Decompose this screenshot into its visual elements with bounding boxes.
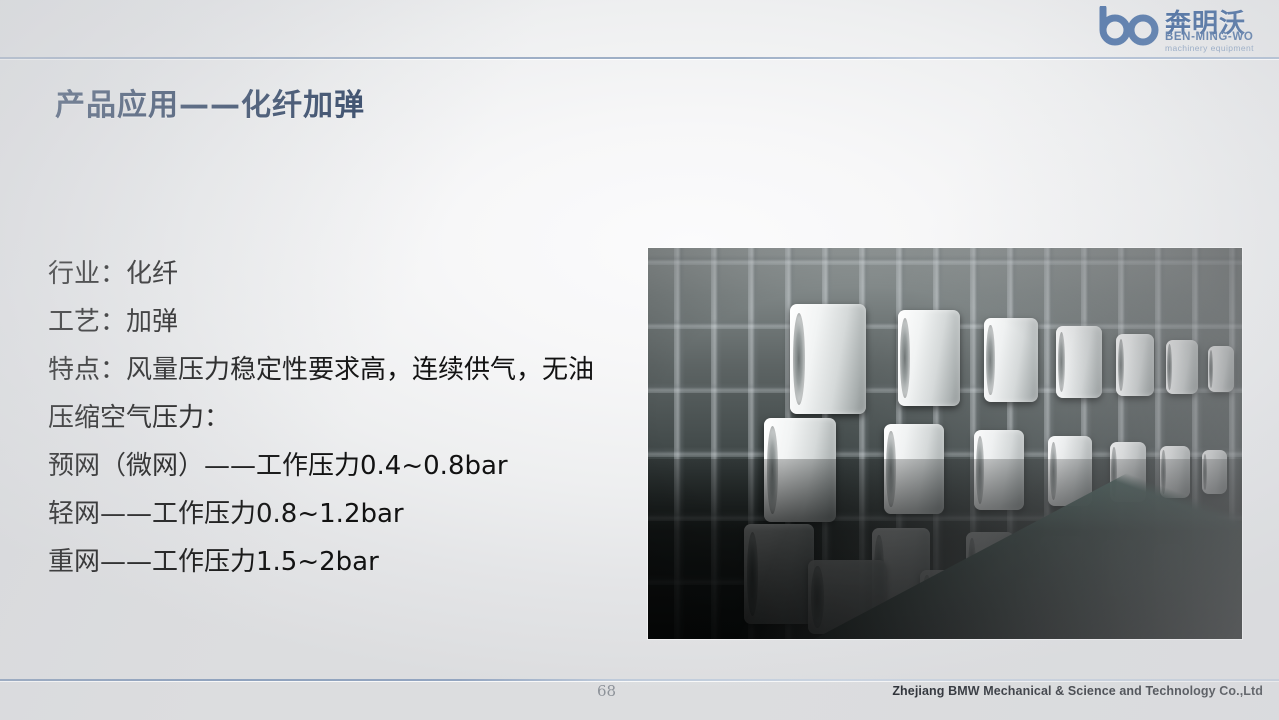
body-text-block: 行业：化纤 工艺：加弹 特点：风量压力稳定性要求高，连续供气，无油 压缩空气压力… bbox=[48, 250, 618, 586]
footer-divider bbox=[0, 679, 1279, 681]
photo-vignette bbox=[648, 248, 1242, 639]
body-line: 行业：化纤 bbox=[48, 250, 618, 298]
logo-romanized-name: BEN-MING-WO bbox=[1165, 31, 1253, 43]
bo-monogram-icon bbox=[1099, 6, 1161, 46]
slide-title: 产品应用——化纤加弹 bbox=[55, 80, 365, 124]
logo-tagline: machinery equipment bbox=[1165, 43, 1254, 53]
body-line: 轻网——工作压力0.8~1.2bar bbox=[48, 490, 618, 538]
company-logo: 奔明沃 BEN-MING-WO machinery equipment bbox=[1099, 4, 1265, 54]
company-footer-text: Zhejiang BMW Mechanical & Science and Te… bbox=[892, 684, 1263, 698]
body-line: 工艺：加弹 bbox=[48, 298, 618, 346]
body-line: 预网（微网）——工作压力0.4~0.8bar bbox=[48, 442, 618, 490]
body-line: 特点：风量压力稳定性要求高，连续供气，无油 bbox=[48, 346, 618, 394]
slide-canvas: 奔明沃 BEN-MING-WO machinery equipment 产品应用… bbox=[0, 0, 1279, 720]
body-line: 重网——工作压力1.5~2bar bbox=[48, 538, 618, 586]
page-number: 68 bbox=[597, 682, 616, 700]
header-divider bbox=[0, 57, 1279, 59]
application-photo bbox=[648, 248, 1242, 639]
body-line: 压缩空气压力： bbox=[48, 394, 618, 442]
